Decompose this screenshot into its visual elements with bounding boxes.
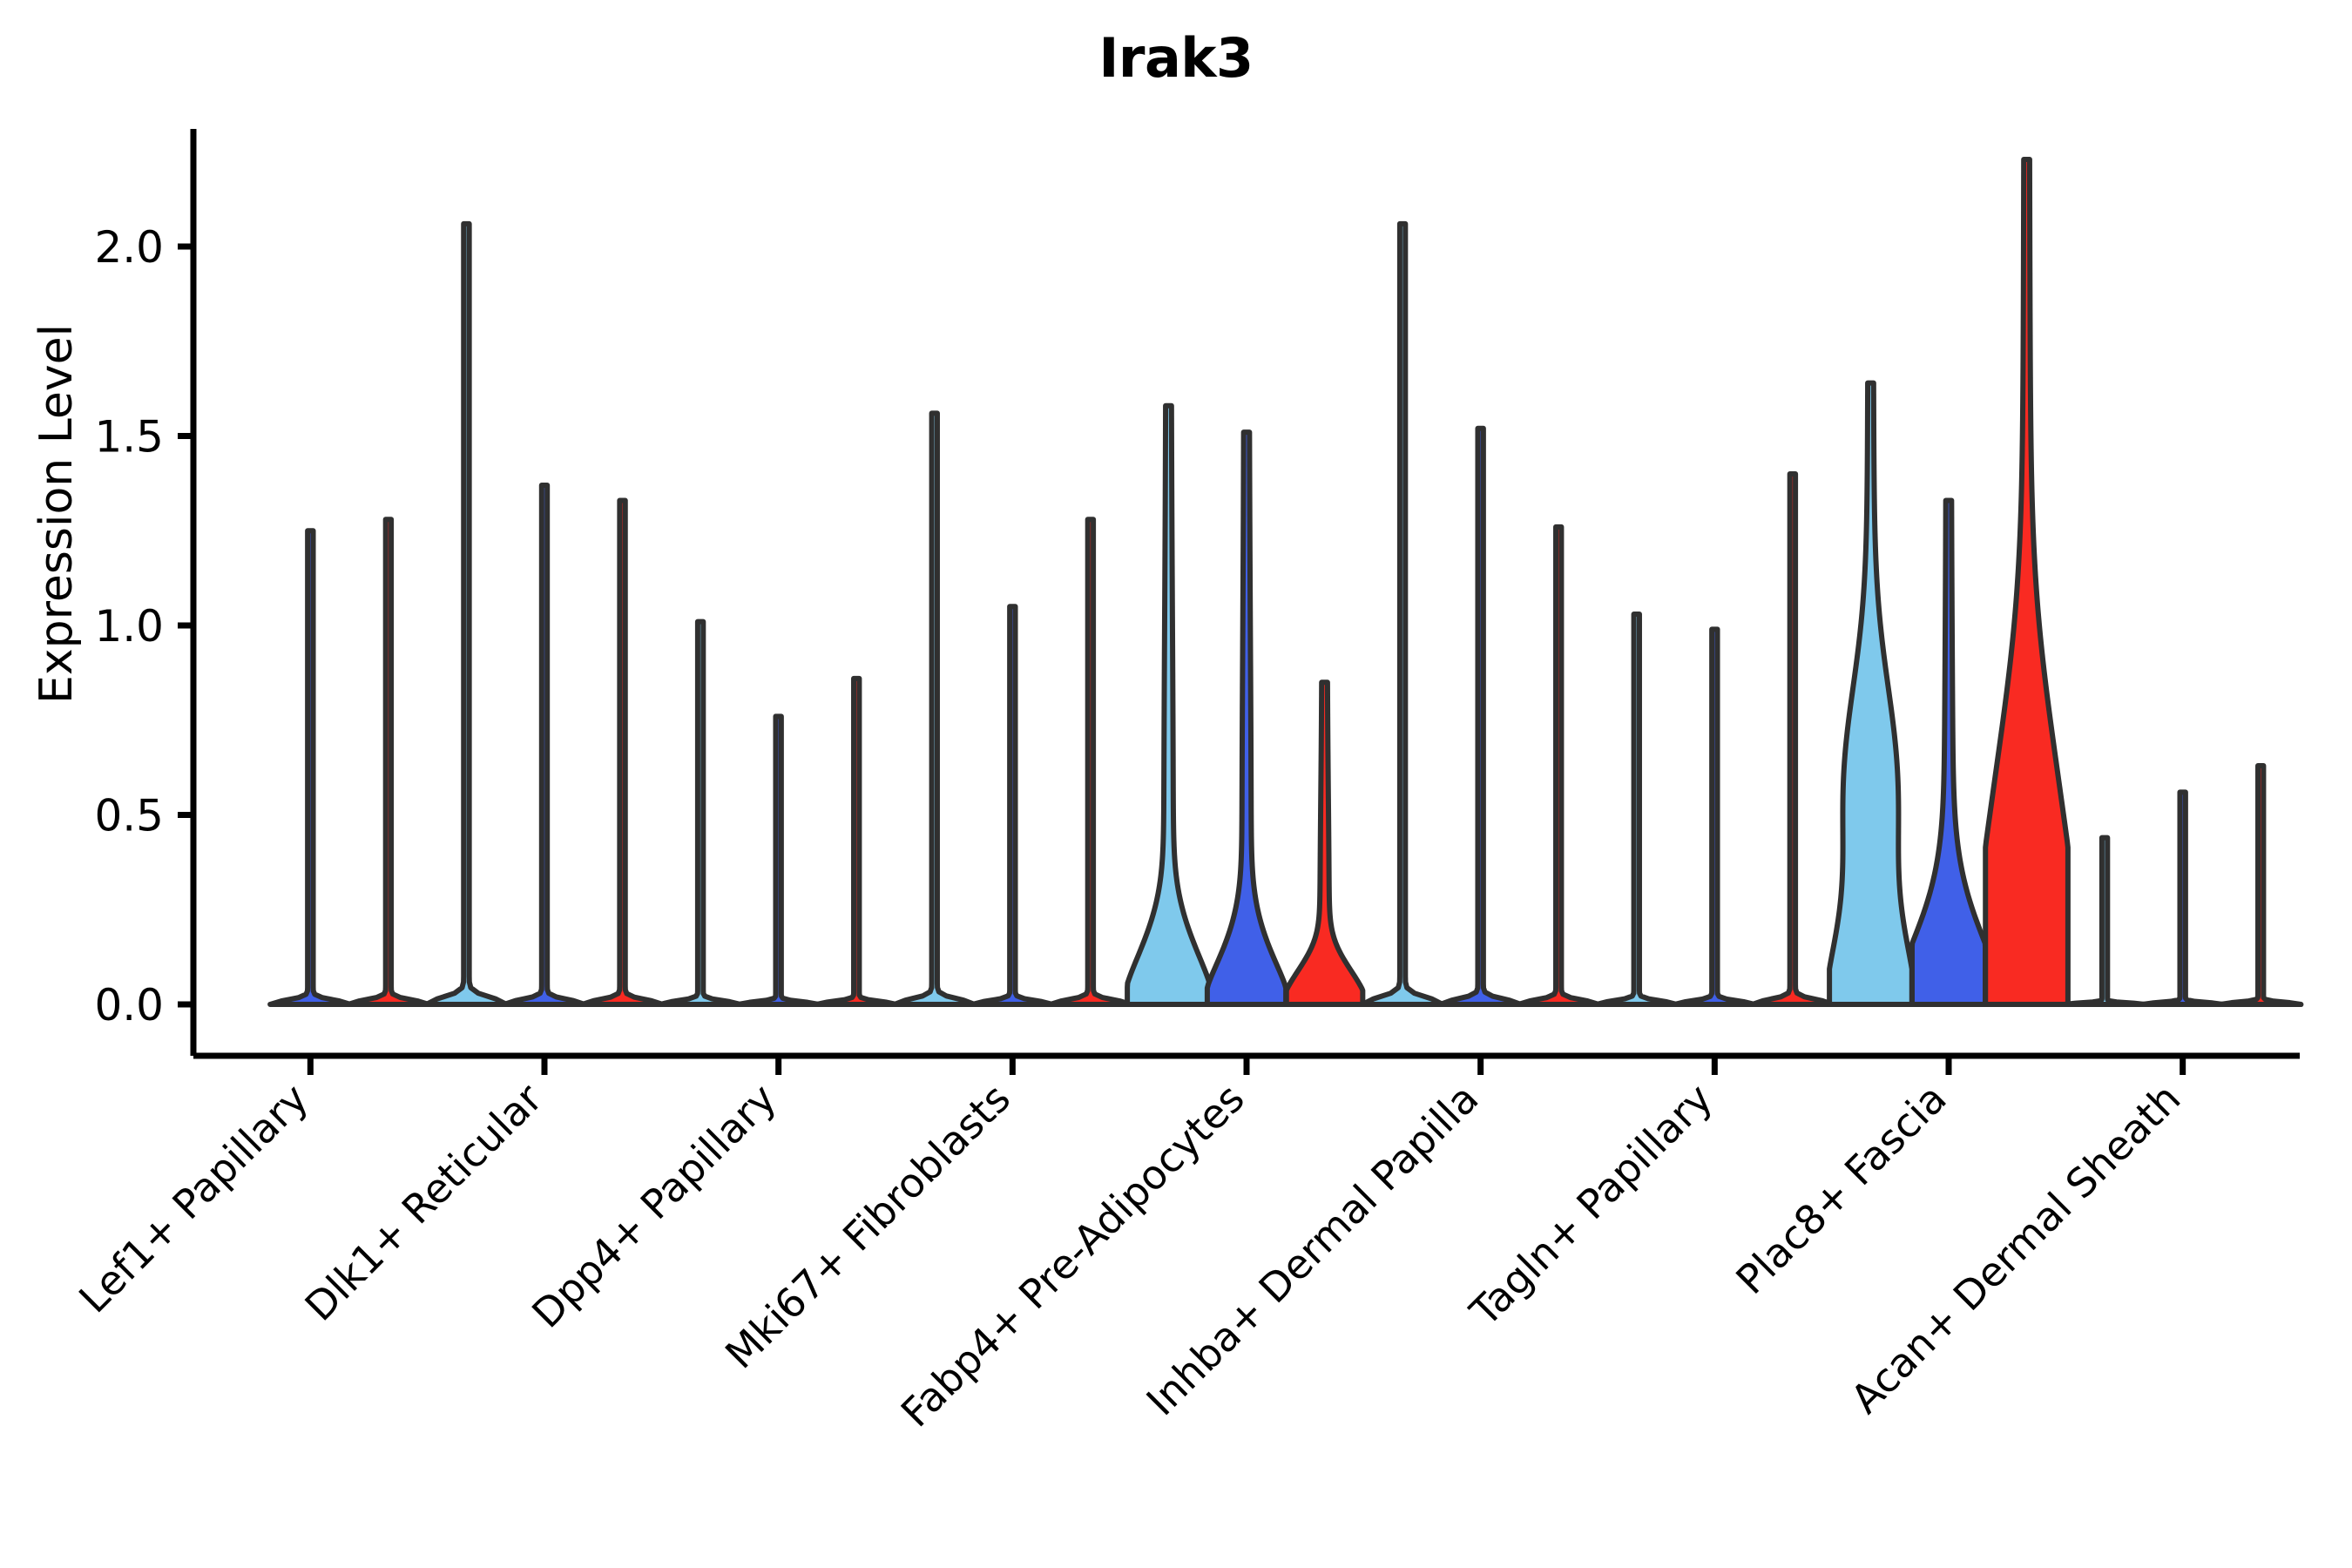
violin-body — [816, 679, 896, 1004]
violin-body — [1518, 527, 1598, 1004]
violin-body — [1753, 474, 1833, 1004]
violin-plot-figure: Irak3 Expression Level 0.00.51.01.52.0 L… — [0, 0, 2352, 1568]
violin-body — [426, 224, 506, 1004]
violin-body — [1287, 682, 1363, 1004]
violin-body — [582, 500, 662, 1004]
x-tick-label: Dpp4+ Papillary — [523, 1075, 785, 1337]
violin-body — [504, 485, 585, 1004]
violin-body — [348, 519, 429, 1004]
violin-body — [2142, 792, 2222, 1004]
violin-body — [738, 716, 818, 1004]
y-tick-label: 0.5 — [94, 791, 164, 841]
violin-body — [1127, 406, 1210, 1004]
violin-body — [2065, 838, 2145, 1004]
violin-body — [1985, 159, 2068, 1004]
violin-bodies-layer — [270, 159, 2301, 1004]
y-tick-label: 1.0 — [94, 601, 164, 652]
violin-body — [660, 622, 740, 1004]
violin-body — [1362, 224, 1443, 1004]
violin-body — [2220, 766, 2301, 1004]
y-tick-label: 0.0 — [94, 980, 164, 1031]
violin-body — [1829, 383, 1912, 1004]
y-tick-layer: 0.00.51.01.52.0 — [94, 222, 193, 1031]
violin-body — [972, 606, 1052, 1004]
plot-canvas: 0.00.51.01.52.0 Lef1+ PapillaryDlk1+ Ret… — [0, 0, 2352, 1568]
y-tick-label: 2.0 — [94, 222, 164, 273]
y-tick-label: 1.5 — [94, 412, 164, 463]
violin-body — [1207, 432, 1286, 1004]
x-tick-label: Tagln+ Papillary — [1461, 1075, 1722, 1336]
x-tick-label: Lef1+ Papillary — [70, 1075, 317, 1322]
x-tick-label: Plac8+ Fascia — [1727, 1075, 1955, 1303]
violin-body — [1597, 614, 1677, 1004]
x-tick-label: Dlk1+ Reticular — [296, 1075, 551, 1330]
violin-body — [895, 413, 975, 1004]
violin-body — [1440, 429, 1520, 1004]
x-tick-layer: Lef1+ PapillaryDlk1+ ReticularDpp4+ Papi… — [70, 1056, 2189, 1436]
violin-body — [270, 531, 350, 1004]
violin-body — [1051, 519, 1131, 1004]
violin-body — [1912, 500, 1985, 1004]
violin-body — [1674, 629, 1754, 1004]
